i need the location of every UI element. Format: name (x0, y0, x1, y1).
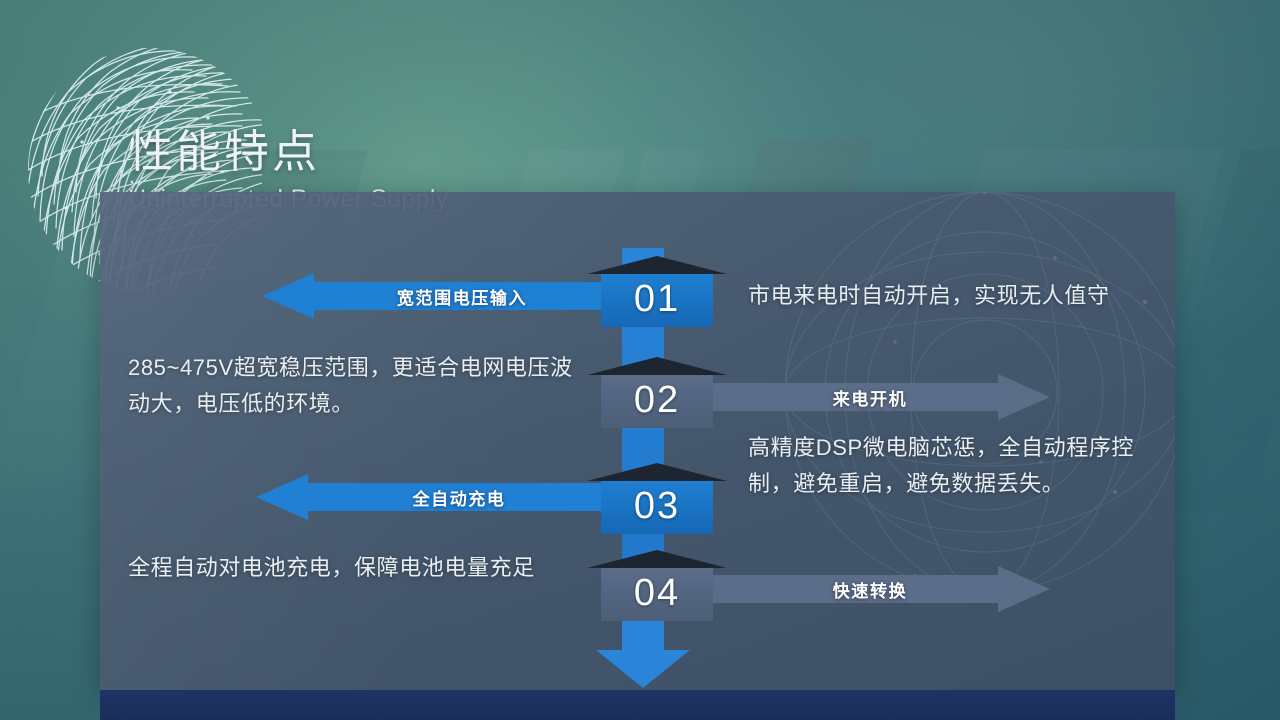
step-arrow-label-03: 全自动充电 (256, 474, 662, 520)
step-number-text-02: 02 (634, 381, 680, 419)
step-arrow-04[interactable]: 快速转换 (690, 566, 1050, 612)
step-body-text-04: 全程自动对电池充电，保障电池电量充足 (128, 550, 548, 586)
step-arrow-01[interactable]: 宽范围电压输入 (262, 273, 662, 319)
step-arrow-label-02: 来电开机 (690, 374, 1050, 420)
step-arrow-02[interactable]: 来电开机 (690, 374, 1050, 420)
page-title: 性能特点 (128, 128, 448, 176)
down-arrow-icon (596, 620, 690, 688)
step-number-text-03: 03 (634, 487, 680, 525)
step-arrow-label-04: 快速转换 (690, 566, 1050, 612)
step-body-text-03: 高精度DSP微电脑芯惩，全自动程序控制，避免重启，避免数据丢失。 (748, 430, 1178, 501)
step-number-text-01: 01 (634, 280, 680, 318)
step-arrow-label-01: 宽范围电压输入 (262, 273, 662, 319)
step-body-text-02: 市电来电时自动开启，实现无人值守 (748, 278, 1148, 314)
step-body-text-01: 285~475V超宽稳压范围，更适合电网电压波动大，电压低的环境。 (128, 350, 573, 421)
panel-footer-strip (100, 690, 1175, 720)
step-arrow-03[interactable]: 全自动充电 (256, 474, 662, 520)
step-number-text-04: 04 (634, 574, 680, 612)
chevron-up-icon (587, 357, 727, 375)
chevron-up-icon (587, 256, 727, 274)
slide-canvas: 性能特点 Uninterrupted Power Supply (0, 0, 1280, 720)
